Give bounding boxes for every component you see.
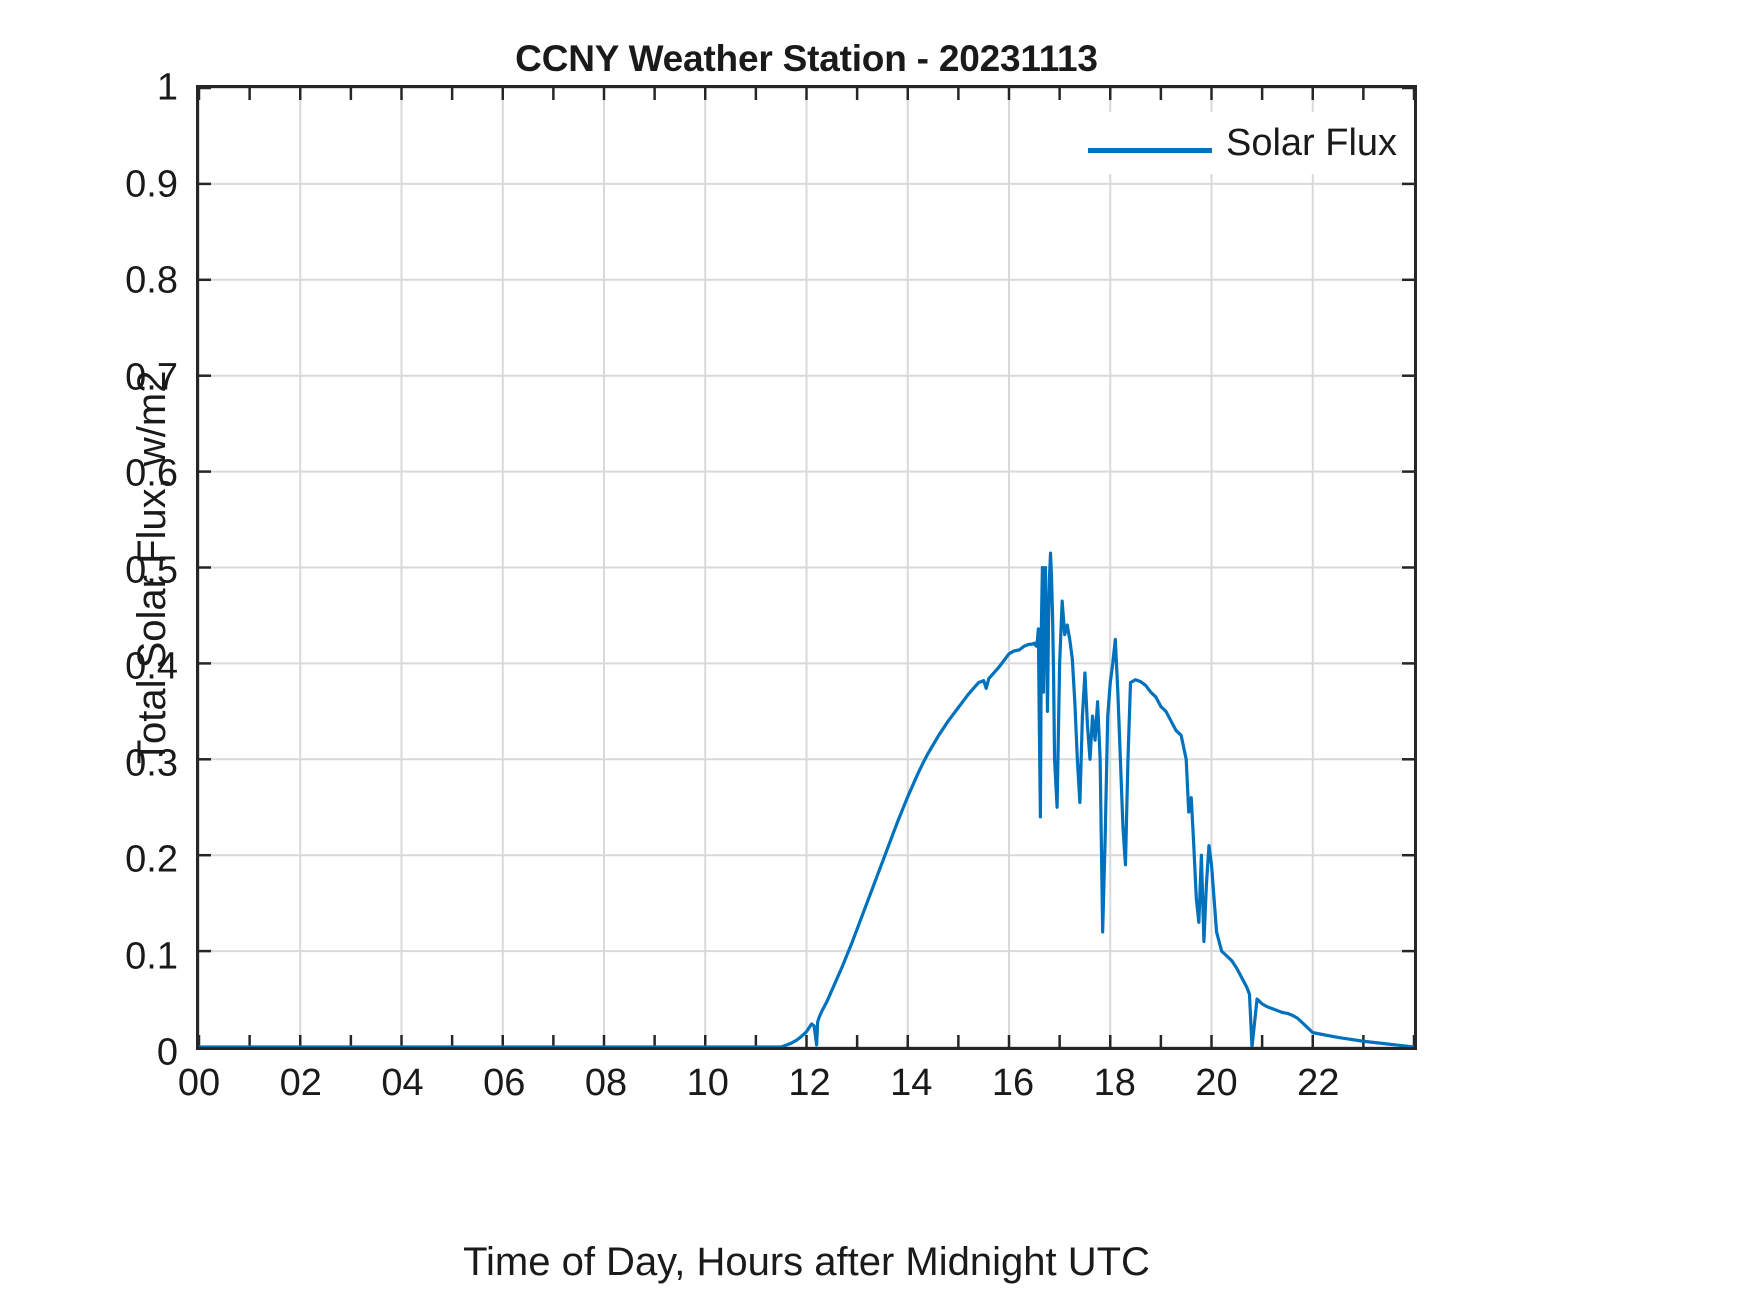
y-tick-label: 0.8: [8, 260, 178, 303]
y-tick-label: 0.3: [8, 742, 178, 785]
y-tick-label: 0.5: [8, 549, 178, 592]
grid-lines: [199, 88, 1414, 1047]
x-tick-label: 22: [1258, 1062, 1378, 1105]
y-axis-tick-labels: 00.10.20.30.40.50.60.70.80.91: [0, 85, 178, 1050]
legend-line-sample: [1088, 140, 1212, 146]
y-tick-label: 0.1: [8, 935, 178, 978]
y-tick-label: 0.4: [8, 646, 178, 689]
page-title: CCNY Weather Station - 20231113: [196, 38, 1417, 80]
plot-svg: [199, 88, 1414, 1047]
x-axis-label: Time of Day, Hours after Midnight UTC: [196, 1240, 1417, 1285]
y-tick-label: 0.7: [8, 356, 178, 399]
y-tick-label: 0.9: [8, 163, 178, 206]
y-tick-label: 1: [8, 67, 178, 110]
legend-label-solar-flux: Solar Flux: [1226, 124, 1397, 162]
y-tick-label: 0.6: [8, 453, 178, 496]
plot-area: [196, 85, 1417, 1050]
y-tick-label: 0.2: [8, 839, 178, 882]
legend[interactable]: Solar Flux: [1088, 112, 1398, 174]
figure-canvas: CCNY Weather Station - 20231113 Total So…: [0, 0, 1750, 1313]
x-axis-tick-labels: 000204060810121416182022: [196, 1062, 1417, 1117]
